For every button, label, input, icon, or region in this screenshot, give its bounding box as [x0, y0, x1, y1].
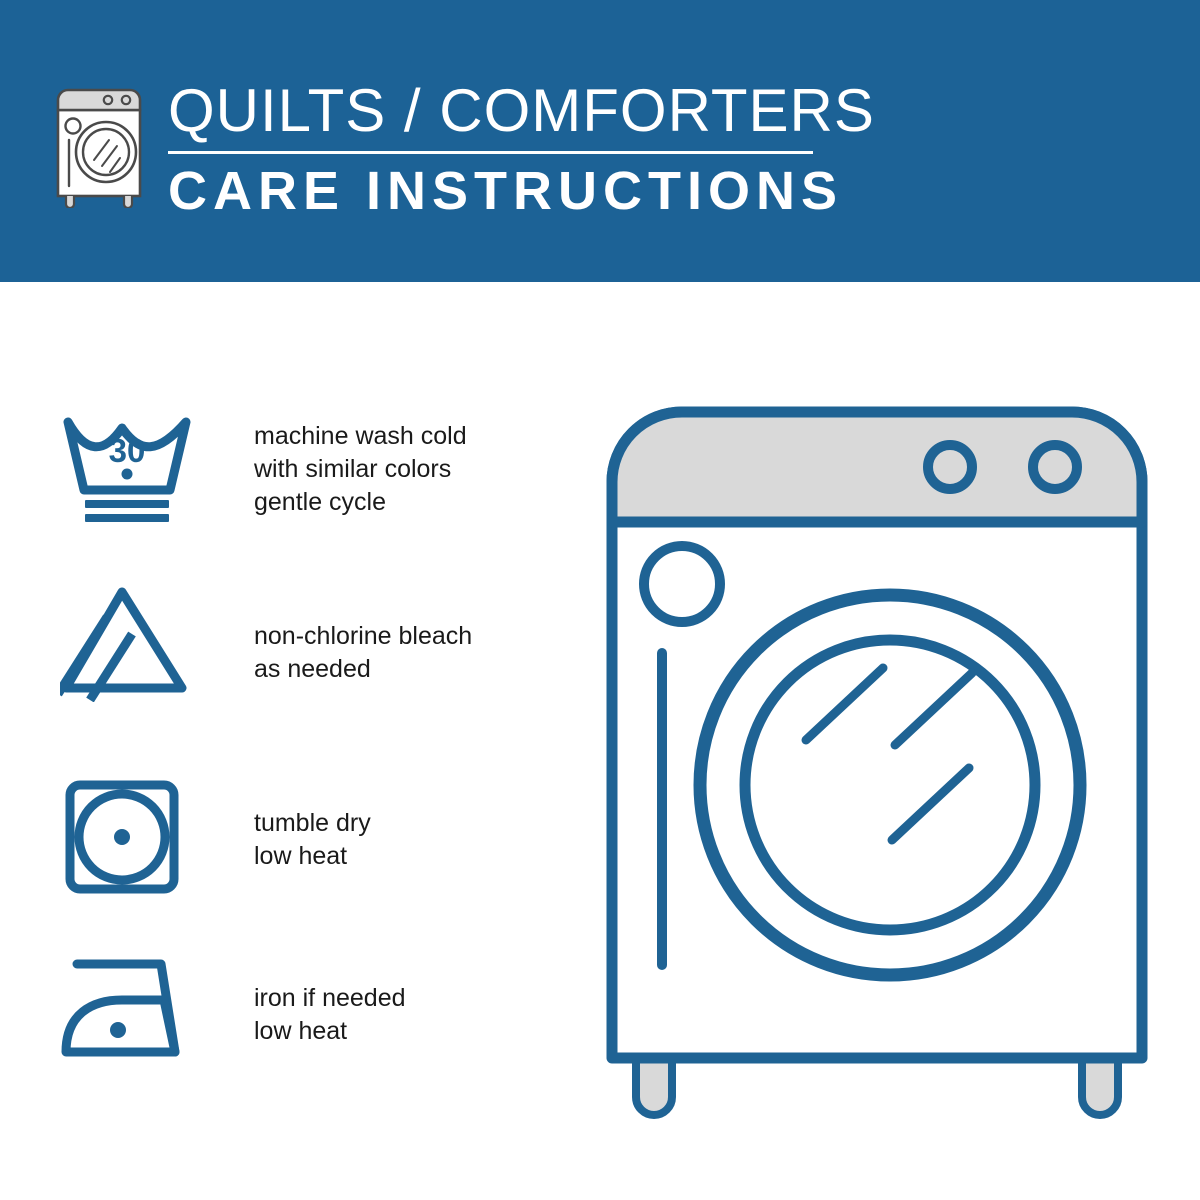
- page-subtitle: CARE INSTRUCTIONS: [168, 162, 848, 220]
- care-label-bleach: non-chlorine bleach as needed: [254, 620, 544, 686]
- care-label-iron: iron if needed low heat: [254, 982, 544, 1048]
- header-title-block: QUILTS / COMFORTERS CARE INSTRUCTIONS: [168, 76, 848, 220]
- bleach-triangle-icon: [60, 582, 200, 712]
- care-label-wash: machine wash cold with similar colors ge…: [254, 420, 544, 519]
- title-divider: [168, 151, 813, 154]
- care-row-iron: iron if needed low heat: [0, 952, 560, 1112]
- washing-machine-illustration: [600, 400, 1170, 1130]
- washing-machine-icon: [52, 78, 160, 208]
- tumble-dry-icon: [60, 777, 200, 907]
- care-row-wash: 30 machine wash cold with similar colors…: [0, 412, 560, 572]
- svg-text:30: 30: [109, 432, 146, 469]
- page-title: QUILTS / COMFORTERS: [168, 76, 848, 146]
- iron-icon: [60, 952, 200, 1082]
- care-instruction-list: 30 machine wash cold with similar colors…: [0, 282, 560, 1200]
- page-header: QUILTS / COMFORTERS CARE INSTRUCTIONS: [0, 0, 1200, 282]
- care-row-bleach: non-chlorine bleach as needed: [0, 582, 560, 742]
- care-row-tumble-dry: tumble dry low heat: [0, 777, 560, 937]
- care-label-tumble-dry: tumble dry low heat: [254, 807, 544, 873]
- wash-tub-30-icon: 30: [60, 412, 200, 542]
